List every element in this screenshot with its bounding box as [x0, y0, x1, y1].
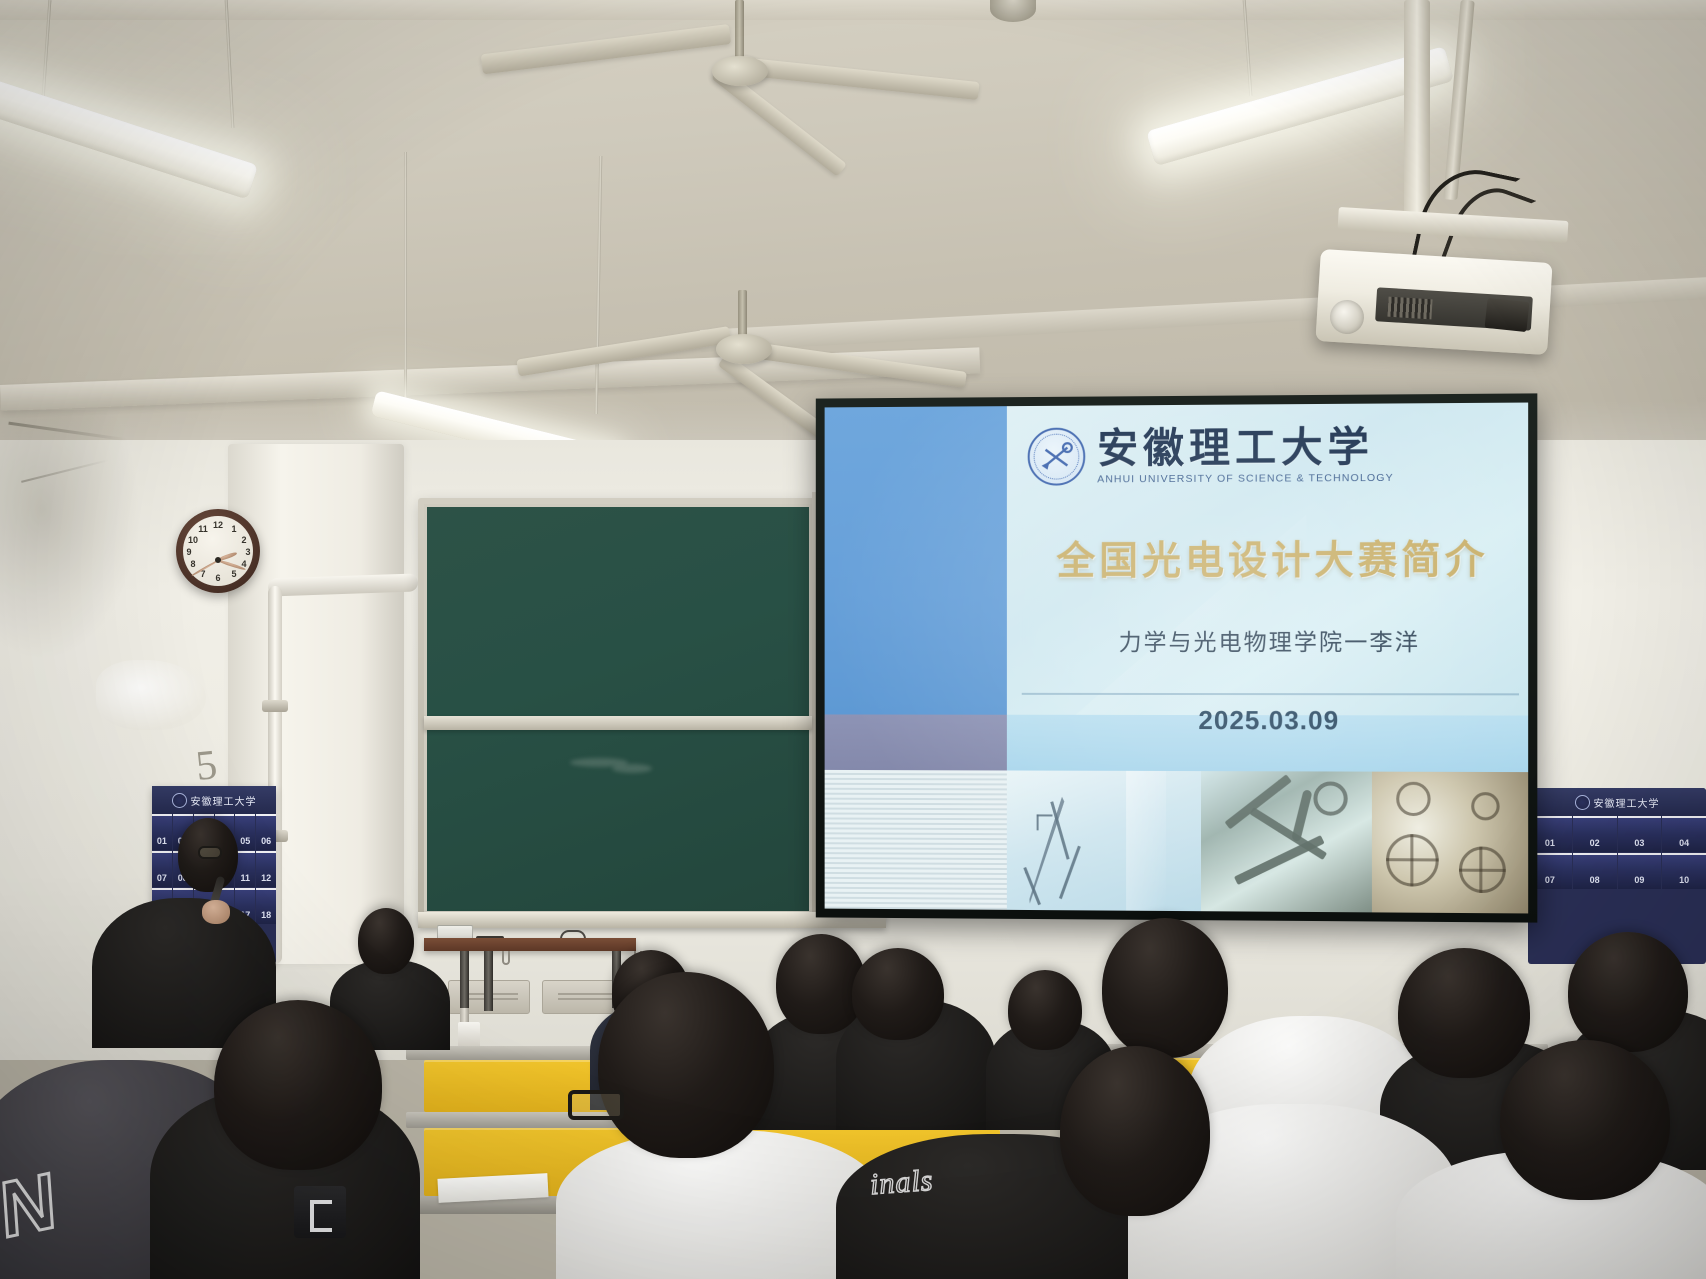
university-name-block: 安徽理工大学 ANHUI UNIVERSITY OF SCIENCE & TEC…: [1097, 426, 1394, 486]
projector-vent: [1387, 297, 1432, 320]
chalkboard-divider: [424, 716, 812, 730]
foreground-student-head: [598, 972, 774, 1158]
slide-side-panel: [825, 406, 1007, 715]
pocket: 11: [235, 851, 255, 887]
chalkboard-surface: [424, 504, 812, 914]
clock-numeral: 5: [227, 569, 241, 579]
pocket: 04: [1662, 816, 1706, 852]
university-seal-icon: [172, 793, 187, 808]
slide-title: 全国光电设计大赛简介: [1022, 529, 1524, 587]
slide-date: 2025.03.09: [1022, 705, 1519, 737]
audience-head: [1102, 918, 1228, 1058]
pocket: 02: [1573, 816, 1617, 852]
presenter-hand: [202, 900, 230, 924]
organizer-header-label: 安徽理工大学: [191, 793, 257, 808]
slide-subtitle: 力学与光电物理学院一李洋: [1022, 623, 1519, 657]
clock-face: 12 1 2 3 4 5 6 7 8 9 10 11: [183, 516, 253, 586]
university-seal-icon: [1575, 795, 1590, 810]
audience-head: [1398, 948, 1530, 1078]
clock-numeral: 9: [182, 547, 196, 557]
fila-patch: [294, 1186, 346, 1238]
wall-stain: [0, 410, 140, 660]
light-suspension-rod: [404, 152, 407, 424]
clock-numeral: 11: [196, 524, 210, 534]
clock-numeral: 3: [241, 547, 255, 557]
tools-hands-photo: [1201, 771, 1372, 912]
wall-clock: 12 1 2 3 4 5 6 7 8 9 10 11: [176, 509, 260, 593]
university-seal-icon: [1028, 428, 1086, 486]
clock-numeral: 10: [186, 535, 200, 545]
pocket: 18: [256, 888, 276, 924]
audience-head: [358, 908, 414, 974]
hoodie-n-logo: N: [0, 1154, 59, 1257]
clock-numeral: 12: [211, 520, 225, 530]
slide-image-strip: [1007, 770, 1528, 913]
desk-leg: [484, 951, 493, 1011]
university-name-en: ANHUI UNIVERSITY OF SCIENCE & TECHNOLOGY: [1097, 472, 1394, 485]
desk-hook: [502, 951, 510, 965]
fan-hub: [712, 56, 768, 86]
pocket: 08: [1573, 853, 1617, 889]
chalk-smudge: [612, 764, 652, 773]
pocket: 03: [1618, 816, 1662, 852]
audience-head: [852, 948, 944, 1040]
foreground-student-head: [214, 1000, 382, 1170]
pocket: 06: [256, 814, 276, 850]
ceiling-beam: [700, 277, 1706, 352]
organizer-header: 安徽理工大学: [152, 786, 276, 814]
lectern-desk: [424, 938, 636, 951]
blueprint-sketch-photo: [1007, 770, 1201, 911]
audience-head: [1008, 970, 1082, 1050]
slide-side-panel-lower: [825, 714, 1007, 770]
organizer-header-label: 安徽理工大学: [1594, 795, 1660, 810]
pocket: 07: [152, 851, 172, 887]
organizer-pocket-grid: 01 02 03 04 07 08 09 10: [1528, 816, 1706, 889]
green-chalkboard: [418, 498, 818, 920]
pocket: 01: [152, 814, 172, 850]
pocket: 05: [235, 814, 255, 850]
presenter-glasses: [198, 846, 222, 859]
clock-numeral: 6: [211, 573, 225, 583]
pocket: 10: [1662, 853, 1706, 889]
projector-mount: [1404, 0, 1430, 232]
clock-numeral: 8: [186, 559, 200, 569]
organizer-header: 安徽理工大学: [1528, 788, 1706, 816]
clock-numeral: 1: [227, 524, 241, 534]
ceiling-beam: [0, 0, 1706, 20]
jacket-back-text: inals: [869, 1164, 935, 1202]
fan-hub: [716, 334, 772, 364]
student-glasses: [568, 1090, 624, 1120]
foreground-student-head: [1500, 1040, 1670, 1200]
clock-center-pin: [215, 557, 221, 563]
desk-leg: [460, 951, 469, 1011]
projected-slide: 安徽理工大学 ANHUI UNIVERSITY OF SCIENCE & TEC…: [825, 403, 1529, 914]
classroom-photo: 5 12 1 2 3 4 5 6 7 8 9 10 11: [0, 0, 1706, 1279]
projector-plug: [1485, 298, 1530, 332]
slide-striped-panel: [825, 770, 1007, 910]
university-name-cn: 安徽理工大学: [1097, 428, 1394, 469]
pipe-clamp: [262, 700, 288, 712]
audience-head: [1568, 932, 1688, 1052]
clock-numeral: 2: [237, 535, 251, 545]
pocket: 09: [1618, 853, 1662, 889]
projection-screen: 安徽理工大学 ANHUI UNIVERSITY OF SCIENCE & TEC…: [816, 393, 1538, 922]
clock-gears-photo: [1372, 772, 1528, 914]
slide-university-header: 安徽理工大学 ANHUI UNIVERSITY OF SCIENCE & TEC…: [1028, 425, 1528, 500]
foreground-student-head: [1060, 1046, 1210, 1216]
pocket: 12: [256, 851, 276, 887]
